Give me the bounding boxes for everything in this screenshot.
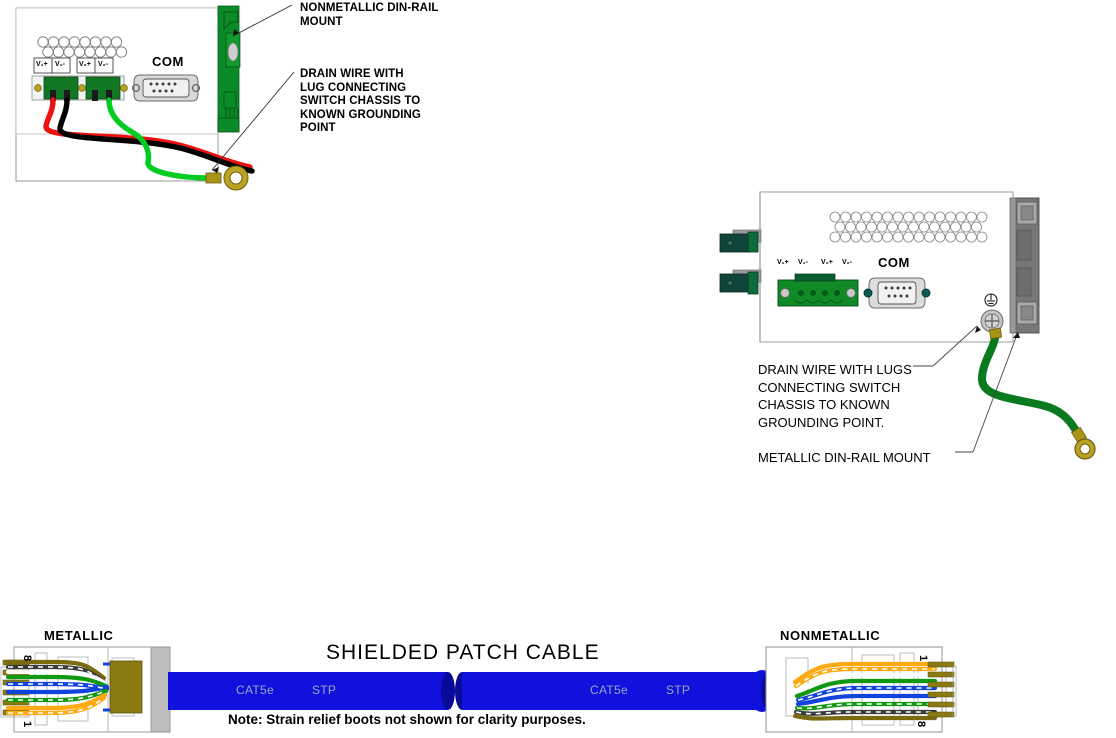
cable-marking-right-cat5e: CAT5e bbox=[590, 683, 628, 697]
metallic-din-rail-mount bbox=[1010, 198, 1039, 333]
cable-title: SHIELDED PATCH CABLE bbox=[326, 641, 600, 665]
power-terminal-block-2 bbox=[86, 77, 120, 99]
terminal-label-v1-minus: V₁- bbox=[55, 61, 65, 68]
power-terminal-block-1 bbox=[44, 77, 78, 99]
nonmetallic-din-rail-mount bbox=[218, 6, 240, 132]
cable-marking-left-stp: STP bbox=[312, 683, 336, 697]
terminal-label-v2-minus: V₂- bbox=[842, 259, 852, 266]
terminal-label-v1-plus: V₁+ bbox=[777, 259, 789, 266]
pin-number-left-bottom: 1 bbox=[21, 721, 33, 727]
db9-com-connector bbox=[864, 278, 930, 308]
com-port-label: COM bbox=[152, 54, 184, 69]
cable-note: Note: Strain relief boots not shown for … bbox=[228, 712, 586, 727]
figure-shielded-patch-cable: SHIELDED PATCH CABLE CAT5e STP CAT5e STP… bbox=[0, 620, 1116, 738]
leader-line-din-rail bbox=[233, 5, 292, 36]
callout-drain-wire-metallic: DRAIN WIRE WITH LUGS CONNECTING SWITCH C… bbox=[758, 361, 988, 431]
pin-number-right-top: 1 bbox=[917, 655, 929, 661]
terminal-label-v1-plus: V₁+ bbox=[36, 61, 48, 68]
callout-drain-wire-nonmetallic: DRAIN WIRE WITH LUG CONNECTING SWITCH CH… bbox=[300, 68, 470, 136]
figure-metallic-din-rail: V₁+ V₁- V₂+ V₂- COM bbox=[715, 190, 1116, 480]
com-port-label: COM bbox=[878, 255, 910, 270]
db9-com-connector bbox=[133, 75, 200, 101]
terminal-label-v2-plus: V₂+ bbox=[79, 61, 91, 68]
figure-metallic-svg bbox=[715, 190, 1116, 480]
callout-nonmetallic-din-rail-mount: NONMETALLIC DIN-RAIL MOUNT bbox=[300, 2, 470, 29]
connector-label-metallic: METALLIC bbox=[44, 628, 114, 643]
connector-label-nonmetallic: NONMETALLIC bbox=[780, 628, 880, 643]
fiber-port-upper bbox=[720, 230, 761, 252]
terminal-label-v2-plus: V₂+ bbox=[821, 259, 833, 266]
pin-number-left-top: 8 bbox=[21, 655, 33, 661]
cable-marking-left-cat5e: CAT5e bbox=[236, 683, 274, 697]
cable-marking-right-stp: STP bbox=[666, 683, 690, 697]
terminal-label-v2-minus: V₂- bbox=[98, 61, 108, 68]
ring-lug-terminal-chassis bbox=[989, 328, 1001, 338]
terminal-label-v1-minus: V₁- bbox=[798, 259, 808, 266]
fiber-port-lower bbox=[720, 270, 761, 294]
pin-number-right-bottom: 8 bbox=[915, 721, 927, 727]
ring-lug-terminal-ground bbox=[1072, 427, 1095, 459]
callout-metallic-din-rail-mount: METALLIC DIN-RAIL MOUNT bbox=[758, 449, 998, 467]
green-drain-wire bbox=[982, 333, 1081, 440]
